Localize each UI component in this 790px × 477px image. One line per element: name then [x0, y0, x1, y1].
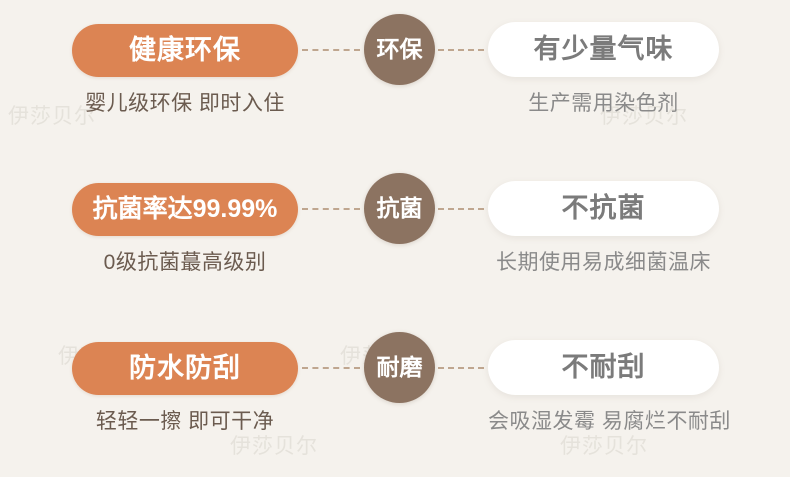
topic-circle: 抗菌 — [364, 173, 435, 244]
con-feature-label: 不耐刮 — [562, 354, 646, 381]
connector-line-left — [302, 208, 360, 210]
con-feature-pill: 不抗菌 — [488, 181, 719, 236]
pro-feature-pill: 健康环保 — [72, 24, 298, 77]
comparison-row: 健康环保 环保 有少量气味 婴儿级环保 即时入住 生产需用染色剂 — [0, 0, 790, 159]
con-feature-label: 有少量气味 — [534, 36, 674, 63]
topic-label: 耐磨 — [377, 356, 423, 379]
pro-caption: 婴儿级环保 即时入住 — [72, 90, 298, 117]
pro-feature-label: 健康环保 — [129, 37, 241, 64]
comparison-row: 抗菌率达99.99% 抗菌 不抗菌 0级抗菌蕞高级别 长期使用易成细菌温床 — [0, 159, 790, 318]
con-caption: 长期使用易成细菌温床 — [488, 249, 719, 276]
connector-line-right — [438, 49, 484, 51]
pro-caption: 0级抗菌蕞高级别 — [72, 249, 298, 276]
topic-label: 环保 — [377, 38, 423, 61]
product-comparison-board: 伊莎贝尔 伊莎贝尔 伊莎贝尔 伊莎贝尔 伊莎贝尔 伊莎贝尔 健康环保 环保 有少… — [0, 0, 790, 477]
pro-caption: 轻轻一擦 即可干净 — [72, 408, 298, 435]
connector-line-left — [302, 49, 360, 51]
con-caption: 生产需用染色剂 — [488, 90, 719, 117]
pro-feature-label: 防水防刮 — [129, 355, 241, 382]
connector-line-right — [438, 367, 484, 369]
pro-feature-pill: 防水防刮 — [72, 342, 298, 395]
con-feature-pill: 不耐刮 — [488, 340, 719, 395]
topic-circle: 环保 — [364, 14, 435, 85]
connector-line-right — [438, 208, 484, 210]
comparison-row: 防水防刮 耐磨 不耐刮 轻轻一擦 即可干净 会吸湿发霉 易腐烂不耐刮 — [0, 318, 790, 477]
topic-label: 抗菌 — [377, 197, 423, 220]
pro-feature-pill: 抗菌率达99.99% — [72, 183, 298, 236]
con-feature-label: 不抗菌 — [562, 195, 646, 222]
connector-line-left — [302, 367, 360, 369]
con-caption: 会吸湿发霉 易腐烂不耐刮 — [488, 408, 719, 435]
topic-circle: 耐磨 — [364, 332, 435, 403]
pro-feature-label: 抗菌率达99.99% — [93, 197, 278, 222]
con-feature-pill: 有少量气味 — [488, 22, 719, 77]
